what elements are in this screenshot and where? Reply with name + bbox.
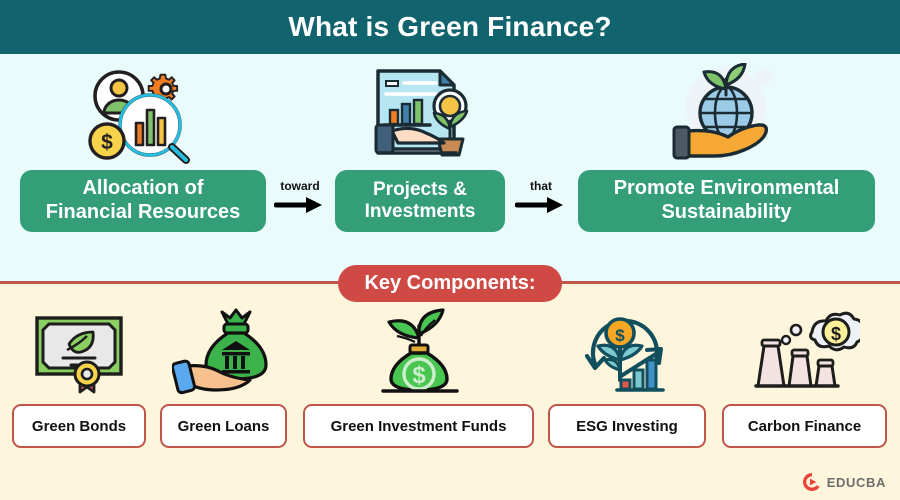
flow-step-1-line2: Financial Resources: [46, 201, 241, 225]
component-esg-investing-label-box[interactable]: ESG Investing: [548, 404, 706, 448]
flow-step-2: Projects & Investments: [335, 60, 505, 232]
arrow-right-icon: [515, 196, 567, 214]
hand-money-bag-bank-icon: [172, 304, 276, 396]
component-green-investment-funds-label-box[interactable]: Green Investment Funds: [303, 404, 534, 448]
component-carbon-finance[interactable]: $ Carbon Finance: [722, 304, 887, 448]
flow-connector-2: that: [509, 179, 573, 214]
component-green-bonds[interactable]: Green Bonds: [12, 304, 146, 448]
component-esg-investing-label: ESG Investing: [576, 418, 678, 435]
component-green-loans-label-box[interactable]: Green Loans: [160, 404, 287, 448]
component-carbon-finance-label-box[interactable]: Carbon Finance: [722, 404, 887, 448]
key-components-row: Green Bonds Gr: [0, 304, 900, 464]
flow-step-3: Promote Environmental Sustainability: [578, 60, 875, 232]
flow-step-2-box: Projects & Investments: [335, 170, 505, 232]
educba-logo-icon: [802, 472, 822, 492]
infographic-page: What is Green Finance?: [0, 0, 900, 500]
flow-step-2-line1: Projects &: [365, 179, 476, 201]
component-green-bonds-label: Green Bonds: [32, 418, 126, 435]
flow-step-1: $ Allocation of Financial Resources: [20, 60, 266, 232]
component-green-loans-label: Green Loans: [178, 418, 270, 435]
flow-section: $ Allocation of Financial Resources towa…: [0, 54, 900, 281]
header-banner: What is Green Finance?: [0, 0, 900, 54]
factory-carbon-cloud-icon: $: [750, 304, 860, 396]
svg-text:$: $: [615, 326, 625, 345]
key-components-badge: Key Components:: [338, 265, 561, 302]
flow-connector-1: toward: [268, 179, 332, 214]
money-bag-sprout-icon: $: [367, 304, 471, 396]
coin-plant-growth-chart-icon: $: [575, 304, 679, 396]
flow-step-2-line2: Investments: [365, 201, 476, 223]
svg-text:$: $: [412, 362, 426, 389]
educba-logo-text: EDUCBA: [827, 475, 886, 490]
arrow-right-icon: [274, 196, 326, 214]
flow-step-1-box: Allocation of Financial Resources: [20, 170, 266, 232]
investment-report-icon: [364, 60, 476, 170]
flow-connector-2-label: that: [530, 179, 552, 193]
flow-step-1-line1: Allocation of: [46, 177, 241, 201]
hand-globe-plant-icon: [668, 60, 786, 170]
svg-text:$: $: [101, 131, 113, 154]
key-components-badge-wrap: Key Components:: [0, 264, 900, 302]
page-title: What is Green Finance?: [288, 11, 611, 43]
component-green-investment-funds[interactable]: $ Green Investment Funds: [303, 304, 534, 448]
svg-text:$: $: [830, 324, 840, 344]
flow-step-3-line1: Promote Environmental: [614, 177, 840, 201]
flow-step-3-line2: Sustainability: [614, 201, 840, 225]
finance-analysis-icon: $: [84, 60, 202, 170]
component-esg-investing[interactable]: $ ESG Investing: [548, 304, 706, 448]
certificate-leaf-icon: [27, 304, 131, 396]
flow-step-3-box: Promote Environmental Sustainability: [578, 170, 875, 232]
flow-connector-1-label: toward: [280, 179, 319, 193]
component-green-bonds-label-box[interactable]: Green Bonds: [12, 404, 146, 448]
educba-logo[interactable]: EDUCBA: [802, 472, 886, 492]
component-carbon-finance-label: Carbon Finance: [748, 418, 861, 435]
component-green-investment-funds-label: Green Investment Funds: [331, 418, 507, 435]
component-green-loans[interactable]: Green Loans: [160, 304, 287, 448]
